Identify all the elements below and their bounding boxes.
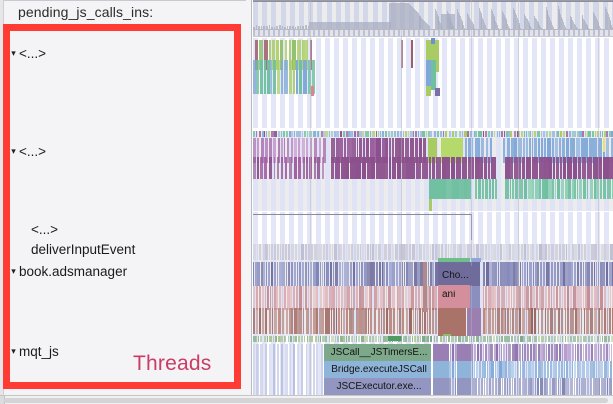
chart-stripe xyxy=(316,212,321,244)
chart-slice xyxy=(607,308,609,334)
selection-edge xyxy=(253,214,472,215)
chart-slice xyxy=(594,336,596,342)
chart-stripe xyxy=(334,212,339,244)
chart-stripe xyxy=(532,38,537,96)
chart-slice xyxy=(326,244,328,260)
chart-slice xyxy=(343,244,345,260)
chart-slice xyxy=(266,131,268,137)
chart-slice xyxy=(572,131,573,137)
chart-slice xyxy=(397,131,400,137)
chart-slice xyxy=(531,361,534,378)
chart-stripe xyxy=(496,38,501,96)
chart-slice xyxy=(269,336,272,342)
chart-slice xyxy=(386,286,388,310)
chart-slice xyxy=(361,286,364,310)
chart-slice xyxy=(378,336,379,342)
chart-slice xyxy=(263,244,265,260)
thread-tree-row-label: mqt_js xyxy=(19,343,59,360)
chart-slice xyxy=(474,344,476,361)
chart-slice xyxy=(497,286,500,310)
chart-slice xyxy=(429,199,432,211)
chart-slice xyxy=(265,244,267,260)
chart-slice xyxy=(550,361,552,378)
chart-slice xyxy=(493,336,495,342)
chart-slice xyxy=(271,244,273,260)
chart-slice xyxy=(361,262,364,286)
chart-slice xyxy=(329,244,332,260)
chart-slice xyxy=(331,157,334,179)
chart-slice xyxy=(278,308,280,334)
chart-slice xyxy=(462,131,463,137)
chart-slice xyxy=(262,286,264,310)
chart-slice xyxy=(384,244,387,260)
chart-stripe xyxy=(370,96,375,128)
chart-slice xyxy=(567,157,573,179)
chart-stripe xyxy=(361,96,366,128)
chart-slice xyxy=(268,131,270,137)
chart-slice xyxy=(260,60,264,94)
chart-slice xyxy=(495,179,497,199)
chart-slice xyxy=(318,131,319,137)
chart-slice xyxy=(590,179,594,199)
chart-slice xyxy=(335,262,338,286)
chart-slice xyxy=(489,336,492,342)
chart-slice xyxy=(524,378,527,396)
chart-stripe xyxy=(415,38,420,96)
disclosure-triangle-icon[interactable]: ▾ xyxy=(8,263,19,280)
chart-slice xyxy=(376,131,378,137)
chart-slice xyxy=(269,244,270,260)
chart-slice xyxy=(383,308,385,334)
page-title: pending_js_calls_ins: xyxy=(18,4,153,20)
chart-stripe xyxy=(478,96,483,128)
chart-slice xyxy=(332,286,335,310)
chart-stripe xyxy=(460,212,465,244)
overview-bar xyxy=(389,3,409,30)
chart-slice xyxy=(519,308,522,334)
chart-slice xyxy=(351,244,353,260)
chart-slice xyxy=(534,131,536,137)
chart-slice xyxy=(334,244,337,260)
chart-slice xyxy=(514,131,516,137)
chart-slice xyxy=(585,344,588,361)
chart-labeled-block[interactable]: Bridge.executeJSCall xyxy=(324,361,431,378)
thread-tree-row[interactable]: ▾<...> xyxy=(0,221,58,238)
chart-slice xyxy=(388,131,390,137)
chart-slice xyxy=(265,286,267,310)
chart-slice xyxy=(557,336,559,342)
chart-slice xyxy=(433,344,449,361)
thread-tree-row[interactable]: ▾<...> xyxy=(0,143,46,160)
chart-slice xyxy=(603,138,605,152)
chart-slice xyxy=(473,336,475,342)
chart-labeled-block[interactable]: JSCExecutor.exe... xyxy=(324,378,431,395)
chart-slice xyxy=(299,308,301,334)
chart-slice xyxy=(435,88,440,96)
chart-slice xyxy=(452,179,458,199)
chart-slice xyxy=(522,361,525,378)
chart-slice xyxy=(548,344,550,361)
chart-slice xyxy=(478,179,481,199)
chart-slice xyxy=(307,336,309,342)
chart-slice xyxy=(298,157,300,179)
disclosure-triangle-icon[interactable]: ▾ xyxy=(8,45,19,62)
chart-slice xyxy=(299,131,301,137)
chart-slice xyxy=(524,344,526,361)
chart-slice xyxy=(526,361,527,378)
chart-slice xyxy=(511,361,514,378)
chart-left-gutter xyxy=(246,0,252,404)
chart-stripe xyxy=(523,38,528,96)
chart-stripe xyxy=(352,212,357,244)
chart-stripe xyxy=(487,38,492,96)
chart-labeled-block[interactable]: JSCall__JSTimersE... xyxy=(324,344,431,361)
chart-slice xyxy=(257,157,259,179)
chart-slice xyxy=(279,286,281,310)
chart-slice xyxy=(523,336,525,342)
chart-slice xyxy=(549,131,551,137)
chart-slice xyxy=(584,308,586,334)
chart-slice xyxy=(440,336,442,342)
horizontal-scrollbar[interactable] xyxy=(0,395,613,404)
chart-stripe xyxy=(568,96,573,128)
chart-slice xyxy=(548,336,550,342)
chart-slice xyxy=(287,286,290,310)
thread-tree-row[interactable]: ▾book.adsmanager xyxy=(0,263,127,280)
chart-slice xyxy=(347,286,350,310)
chart-slice xyxy=(484,378,486,396)
chart-slice xyxy=(274,262,276,286)
chart-slice xyxy=(563,157,566,179)
chart-slice xyxy=(574,262,575,286)
chart-slice xyxy=(366,336,368,342)
chart-slice xyxy=(546,131,548,137)
chart-slice xyxy=(541,336,543,342)
chart-slice xyxy=(572,361,573,378)
chart-labeled-block[interactable]: ani xyxy=(438,285,470,304)
chart-stripe xyxy=(271,212,276,244)
chart-slice xyxy=(547,308,549,334)
chart-slice xyxy=(422,131,424,137)
chart-slice xyxy=(306,157,308,179)
chart-slice xyxy=(452,344,454,361)
chart-slice xyxy=(519,179,523,199)
chart-slice xyxy=(290,344,292,396)
chart-stripe xyxy=(406,96,411,128)
chart-stripe xyxy=(280,96,285,128)
chart-slice xyxy=(586,361,589,378)
chart-slice xyxy=(487,336,488,342)
chart-slice xyxy=(451,157,455,179)
chart-slice xyxy=(561,361,563,378)
chart-slice xyxy=(572,308,574,334)
chart-slice xyxy=(556,157,559,179)
chart-slice xyxy=(593,361,595,378)
chart-slice xyxy=(411,40,413,68)
chart-slice xyxy=(562,336,563,342)
chart-stripe xyxy=(388,212,393,244)
chart-slice xyxy=(403,131,404,137)
scrollbar-thumb[interactable] xyxy=(4,398,608,403)
chart-slice xyxy=(392,262,395,286)
chart-slice xyxy=(489,179,491,199)
chart-slice xyxy=(280,244,282,260)
chart-slice xyxy=(323,244,325,260)
chart-slice xyxy=(521,244,523,260)
chart-slice xyxy=(537,378,539,396)
chart-slice xyxy=(538,336,540,342)
chart-stripe xyxy=(442,38,447,96)
chart-slice xyxy=(402,157,406,179)
chart-stripe xyxy=(604,96,609,128)
chart-slice xyxy=(561,308,563,334)
chart-slice xyxy=(577,308,579,334)
chart-slice xyxy=(591,336,593,342)
chart-stripe xyxy=(442,212,447,244)
chart-slice xyxy=(293,60,295,94)
chart-slice xyxy=(546,262,549,286)
chart-slice xyxy=(337,336,339,342)
chart-slice xyxy=(535,157,538,179)
chart-slice xyxy=(544,157,548,179)
chart-slice xyxy=(373,262,375,286)
chart-slice xyxy=(433,361,449,378)
chart-stripe xyxy=(550,96,555,128)
chart-slice xyxy=(564,361,565,378)
chart-slice xyxy=(526,157,531,179)
chart-slice xyxy=(434,131,437,137)
chart-slice xyxy=(557,262,559,286)
chart-slice xyxy=(552,131,554,137)
chart-slice xyxy=(548,244,551,260)
thread-tree-row[interactable]: ▾mqt_js xyxy=(0,343,59,360)
thread-lane-6-mqt-js xyxy=(253,336,613,398)
chart-slice xyxy=(274,244,276,260)
chart-slice xyxy=(259,131,262,137)
chart-slice xyxy=(365,308,367,334)
chart-slice xyxy=(570,336,572,342)
thread-lane-1 xyxy=(253,38,613,96)
chart-slice xyxy=(435,179,442,199)
chart-slice xyxy=(383,286,385,310)
chart-slice xyxy=(376,262,379,286)
chart-slice xyxy=(499,361,502,378)
chart-block-label: ani xyxy=(442,290,455,300)
chart-stripe xyxy=(577,96,582,128)
chart-slice xyxy=(512,179,515,199)
chart-slice xyxy=(427,336,428,342)
chart-slice xyxy=(484,361,486,378)
chart-slice xyxy=(587,179,589,199)
chart-slice xyxy=(534,308,536,334)
chart-slice xyxy=(483,262,485,286)
chart-slice xyxy=(510,157,513,179)
chart-slice xyxy=(529,262,532,286)
chart-stripe xyxy=(433,212,438,244)
chart-slice xyxy=(491,131,493,137)
chart-slice xyxy=(513,286,516,310)
chart-slice xyxy=(535,361,537,378)
chart-slice xyxy=(276,286,278,310)
chart-slice xyxy=(277,60,281,94)
chart-slice xyxy=(306,308,309,334)
chart-slice xyxy=(541,131,543,137)
chart-slice xyxy=(402,308,405,334)
chart-stripe xyxy=(577,212,582,244)
chart-slice xyxy=(449,131,452,137)
chart-slice xyxy=(459,179,464,199)
chart-slice xyxy=(286,308,289,334)
chart-slice xyxy=(297,344,299,396)
chart-slice xyxy=(303,60,307,94)
chart-stripe xyxy=(343,212,348,244)
chart-slice xyxy=(343,131,345,137)
chart-stripe xyxy=(352,38,357,96)
chart-slice xyxy=(262,308,265,334)
chart-slice xyxy=(415,131,416,137)
chart-slice xyxy=(313,308,316,334)
thread-lane-3 xyxy=(253,131,613,211)
chart-slice xyxy=(269,308,271,334)
chart-slice xyxy=(526,131,527,137)
chart-slice xyxy=(600,179,602,199)
chart-slice xyxy=(574,244,577,260)
chart-slice xyxy=(492,179,494,199)
chart-slice xyxy=(414,336,416,342)
chart-slice xyxy=(560,336,562,342)
highlight-rectangle xyxy=(3,24,241,389)
chart-slice xyxy=(588,131,591,137)
chart-slice xyxy=(514,336,517,342)
chart-slice xyxy=(348,336,350,342)
chart-slice xyxy=(323,286,325,310)
chart-slice xyxy=(497,244,499,260)
chart-slice xyxy=(301,244,304,260)
chart-slice xyxy=(430,244,432,260)
chart-slice xyxy=(320,286,322,310)
chart-slice xyxy=(522,308,525,334)
chart-slice xyxy=(417,336,419,342)
chart-slice xyxy=(303,286,304,310)
chart-slice xyxy=(341,157,346,179)
chart-slice xyxy=(540,262,542,286)
chart-slice xyxy=(583,262,585,286)
chart-slice xyxy=(256,286,259,310)
chart-stripe xyxy=(262,96,267,128)
chart-slice xyxy=(553,286,555,310)
chart-slice xyxy=(550,308,552,334)
chart-slice xyxy=(338,308,340,334)
chart-slice xyxy=(483,286,484,310)
chart-slice xyxy=(350,131,353,137)
chart-slice xyxy=(311,86,314,96)
chart-stripe xyxy=(487,96,492,128)
chart-slice xyxy=(320,244,321,260)
chart-slice xyxy=(281,157,283,179)
chart-slice xyxy=(317,157,320,179)
chart-slice xyxy=(264,157,267,179)
chart-slice xyxy=(521,131,523,137)
chart-slice xyxy=(438,308,466,336)
chart-slice xyxy=(603,179,606,199)
chart-slice xyxy=(577,336,579,342)
chart-slice xyxy=(392,157,397,179)
chart-slice xyxy=(524,179,528,199)
chart-slice xyxy=(375,244,377,260)
chart-slice xyxy=(253,244,256,260)
chart-slice xyxy=(291,262,293,286)
chart-slice xyxy=(362,244,363,260)
thread-tree-row-label: book.adsmanager xyxy=(19,263,127,280)
chart-stripe xyxy=(496,131,501,211)
trace-chart-panel[interactable]: Cho...aniJSCall__JSTimersE...Bridge.exec… xyxy=(246,0,613,404)
chart-slice xyxy=(396,262,399,286)
chart-slice xyxy=(554,308,557,334)
chart-canvas[interactable]: Cho...aniJSCall__JSTimersE...Bridge.exec… xyxy=(253,0,613,404)
chart-slice xyxy=(433,378,449,396)
chart-slice xyxy=(432,157,435,179)
disclosure-triangle-icon[interactable]: ▾ xyxy=(8,343,19,360)
chart-slice xyxy=(526,308,528,334)
trace-viewer-window: pending_js_calls_ins: ▾<...>▾<...>▾<...>… xyxy=(0,0,613,404)
chart-slice xyxy=(548,179,552,199)
chart-slice xyxy=(269,157,272,179)
chart-stripe xyxy=(586,38,591,96)
chart-slice xyxy=(304,336,305,342)
chart-slice xyxy=(553,361,555,378)
chart-stripe xyxy=(289,96,294,128)
chart-slice xyxy=(282,262,285,286)
chart-slice xyxy=(594,244,597,260)
chart-slice xyxy=(376,157,381,179)
thread-tree-row[interactable]: ▾deliverInputEvent xyxy=(0,241,135,258)
title-divider xyxy=(4,0,246,1)
chart-slice xyxy=(580,344,582,361)
chart-slice xyxy=(576,378,578,396)
chart-stripe xyxy=(550,212,555,244)
chart-slice xyxy=(311,244,313,260)
chart-stripe xyxy=(433,96,438,128)
chart-time-guide xyxy=(471,0,472,404)
thread-tree-row[interactable]: ▾<...> xyxy=(0,45,46,62)
chart-slice xyxy=(587,262,590,286)
chart-slice xyxy=(520,361,522,378)
chart-slice xyxy=(269,344,271,396)
chart-slice xyxy=(370,131,371,137)
chart-stripe xyxy=(325,96,330,128)
chart-slice xyxy=(583,286,584,310)
chart-labeled-block[interactable]: Cho... xyxy=(438,266,480,285)
chart-slice xyxy=(321,308,324,334)
chart-slice xyxy=(542,179,545,199)
chart-slice xyxy=(347,262,349,286)
chart-slice xyxy=(602,336,603,342)
chart-block-label: JSCall__JSTimersE... xyxy=(331,348,428,358)
chart-slice xyxy=(459,131,462,137)
chart-stripe xyxy=(541,212,546,244)
chart-slice xyxy=(290,336,292,342)
chart-slice xyxy=(455,336,457,342)
chart-slice xyxy=(386,308,389,334)
disclosure-triangle-icon[interactable]: ▾ xyxy=(8,143,19,160)
chart-slice xyxy=(281,131,282,137)
chart-slice xyxy=(353,286,356,310)
chart-slice xyxy=(392,286,395,310)
chart-slice xyxy=(494,286,496,310)
chart-slice xyxy=(426,131,427,137)
chart-slice xyxy=(260,344,263,396)
chart-block-label: Bridge.executeJSCall xyxy=(331,365,427,375)
